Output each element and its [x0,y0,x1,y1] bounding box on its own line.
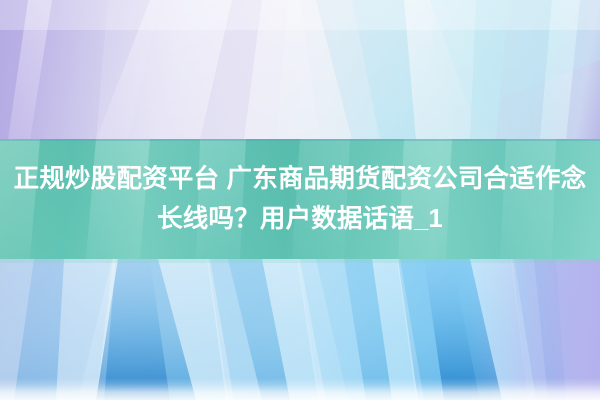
top-facet-overlay [0,0,600,140]
bottom-glow [0,378,600,400]
bottom-gradient-band [0,259,600,400]
headline-line-2: 长线吗？用户数据话语_1 [157,199,443,239]
headline-line-1: 正规炒股配资平台 广东商品期货配资公司合适作念 [14,159,587,199]
headline-block: 正规炒股配资平台 广东商品期货配资公司合适作念 长线吗？用户数据话语_1 [0,139,600,259]
banner-image: 正规炒股配资平台 广东商品期货配资公司合适作念 长线吗？用户数据话语_1 [0,0,600,400]
top-gradient-band [0,0,600,140]
teal-headline-band: 正规炒股配资平台 广东商品期货配资公司合适作念 长线吗？用户数据话语_1 [0,139,600,259]
